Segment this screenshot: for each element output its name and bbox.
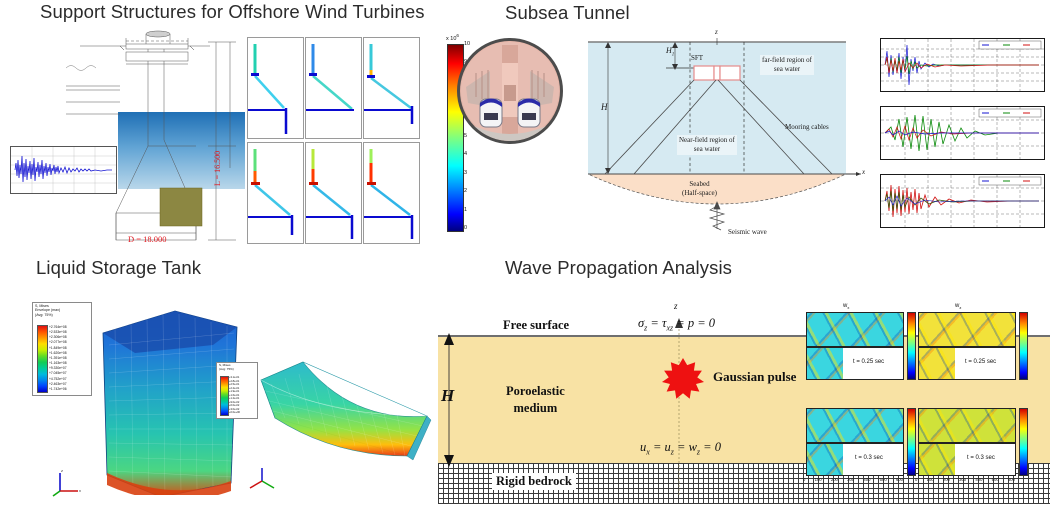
snapshot-column-header-wz: wz [955,303,961,310]
seabed-label: Seabed(Half-space) [682,180,717,198]
near-field-label: Near-field region ofsea water [677,135,737,155]
depth-label-H: H [601,102,608,113]
snapshot-xticks-wx: 0 100 200 300 400 500 600 [803,477,903,482]
snapshot-colorbar-wz-t025 [1019,312,1028,380]
panel-title-subsea-tunnel: Subsea Tunnel [505,2,630,24]
axis-label-z-wave: z [674,301,678,311]
snapshot-column-header-wx: wx [843,303,849,310]
snapshot-time-label-wx-t025: t = 0.25 sec [853,359,884,365]
rigid-bedrock-label: Rigid bedrock [492,473,576,490]
x-tick: 600 [1008,477,1015,482]
x-tick: 500 [880,477,887,482]
snapshot-time-label-wz-t03: t = 0.3 sec [967,455,995,461]
snapshot-wz-wide-t025 [918,312,1016,347]
x-tick: 500 [992,477,999,482]
far-field-label: far-field region ofsea water [760,55,814,75]
snapshot-wz-wide-t03 [918,408,1016,443]
medium-label-line2: medium [514,401,558,415]
time-history-tension [880,106,1045,160]
x-tick: 400 [863,477,870,482]
seismic-wave-label: Seismic wave [728,228,767,237]
axis-label-z: z [715,28,718,37]
snapshot-time-label-wz-t025: t = 0.25 sec [965,359,996,365]
axis-label-x: x [862,168,865,177]
snapshot-wx-wide-t03 [806,408,904,443]
snapshot-colorbar-wx-t03 [907,408,916,476]
panel-title-wave-propagation: Wave Propagation Analysis [505,257,732,279]
boundary-condition-bottom: ux = uz = wz = 0 [640,440,721,457]
panel-subsea-tunnel: Subsea Tunnel [0,0,1050,255]
depth-label-H1: H1 [666,46,674,59]
time-history-acceleration [880,38,1045,92]
x-tick: 600 [896,477,903,482]
time-history-displacement [880,174,1045,228]
poroelastic-medium-label: Poroelastic medium [506,383,565,417]
snapshot-wx-wide-t025 [806,312,904,347]
x-tick: 200 [831,477,838,482]
x-tick: 0 [803,477,805,482]
x-tick: 300 [847,477,854,482]
x-tick: 300 [959,477,966,482]
x-tick: 100 [815,477,822,482]
snapshot-time-label-wx-t03: t = 0.3 sec [855,455,883,461]
mooring-cables-label: Mooring cables [785,123,829,132]
x-tick: 100 [927,477,934,482]
x-tick: 400 [975,477,982,482]
x-tick: 200 [943,477,950,482]
depth-label-H-wave: H [441,386,454,406]
free-surface-label: Free surface [503,318,569,333]
snapshot-colorbar-wz-t03 [1019,408,1028,476]
x-tick: 0 [915,477,917,482]
boundary-condition-top: σz = τxz = p = 0 [638,316,715,333]
medium-label-line1: Poroelastic [506,384,565,398]
tunnel-cross-section-photo [457,38,563,144]
snapshot-xticks-wz: 0 100 200 300 400 500 600 [915,477,1015,482]
gaussian-pulse-label: Gaussian pulse [713,369,796,385]
snapshot-colorbar-wx-t025 [907,312,916,380]
tunnel-label-sft: SFT [691,54,703,63]
